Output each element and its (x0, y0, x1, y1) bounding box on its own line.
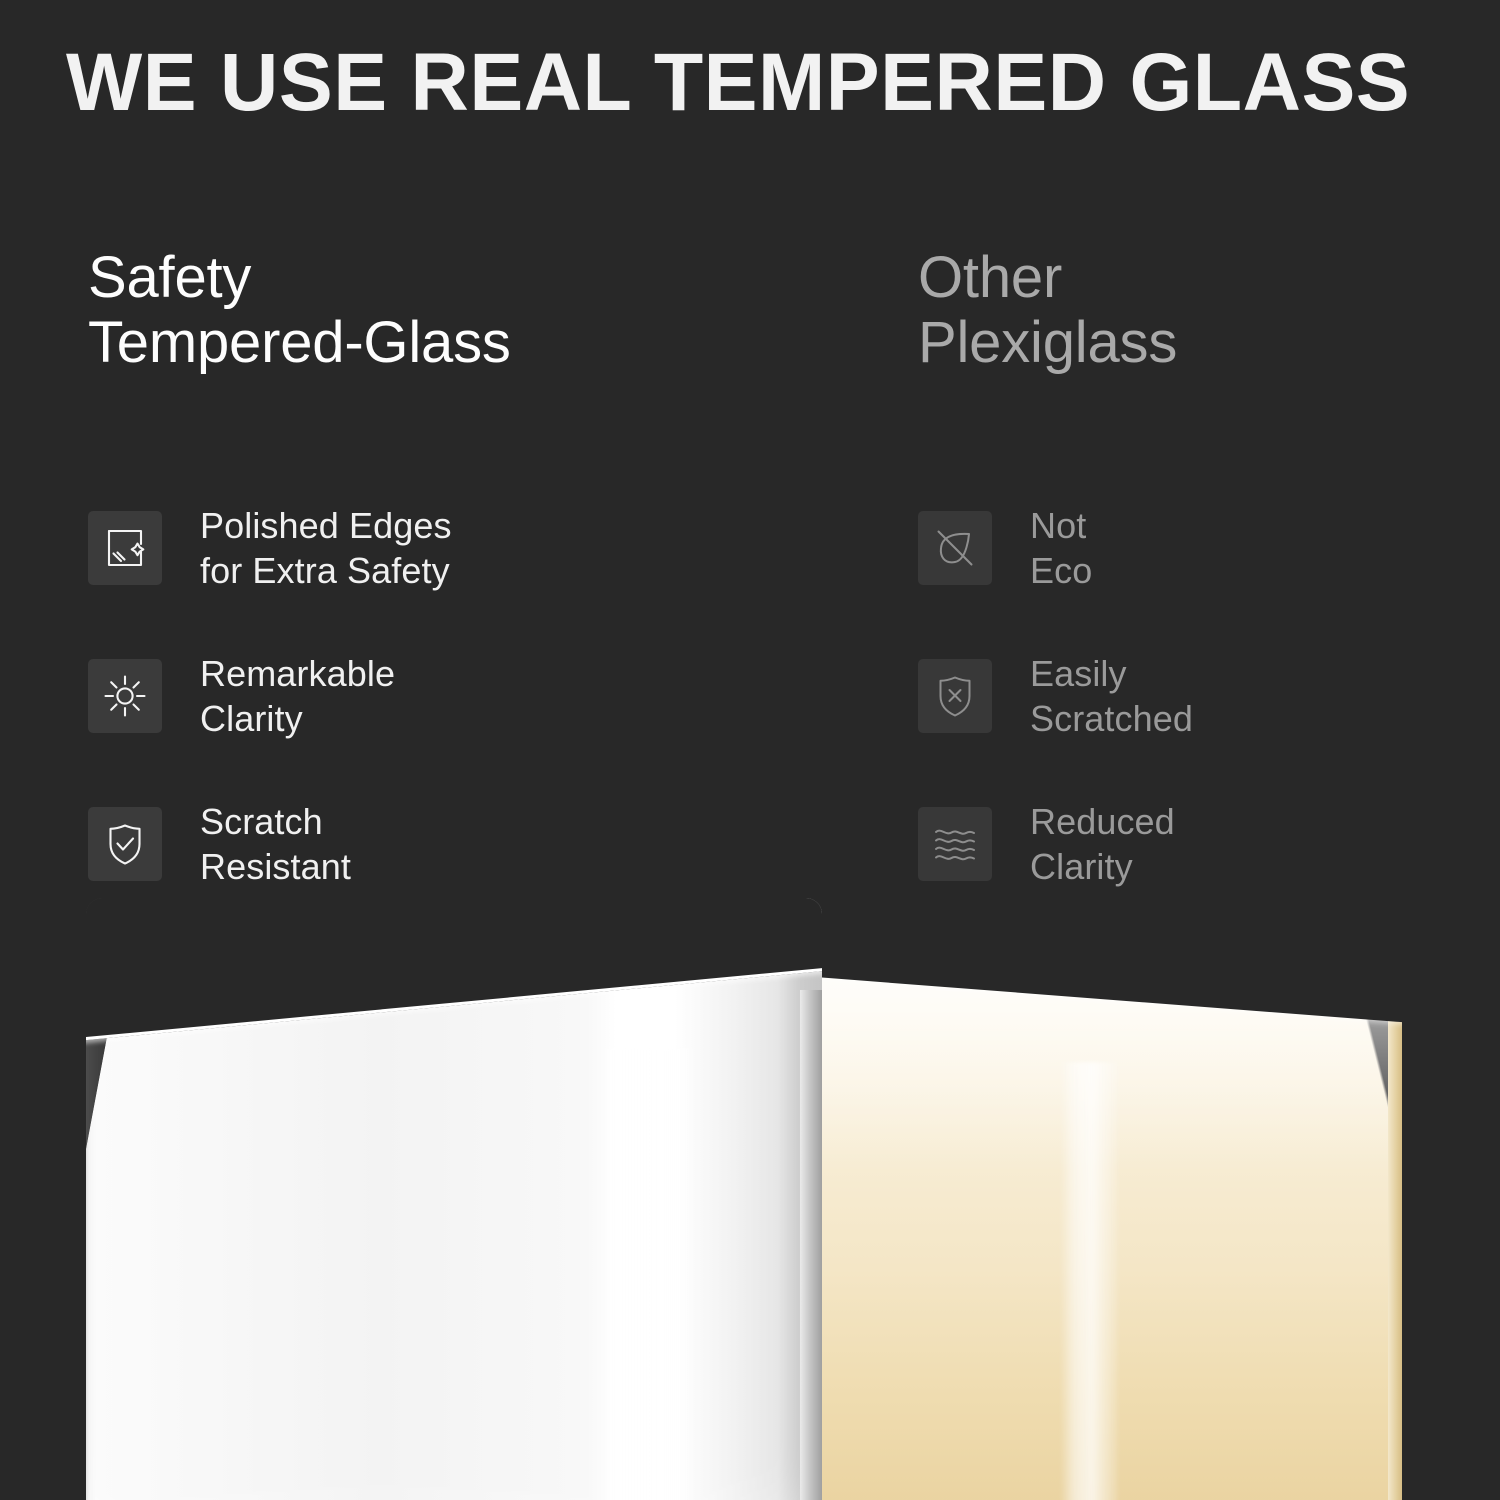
feature-row-polished-edges: Polished Edges for Extra Safety (88, 474, 708, 622)
feature-label-polished-edges: Polished Edges for Extra Safety (200, 503, 452, 593)
feature-label-remarkable-clarity: Remarkable Clarity (200, 651, 395, 741)
plexiglass-top-cut (822, 932, 1402, 1027)
feature-label-reduced-clarity: Reduced Clarity (1030, 799, 1175, 889)
feature-label-not-eco: Not Eco (1030, 503, 1092, 593)
page-title: WE USE REAL TEMPERED GLASS (66, 40, 1445, 126)
column-title-left: Safety Tempered-Glass (88, 246, 708, 376)
feature-list-right: Not Eco Easily Scratched (918, 474, 1500, 918)
infographic-canvas: WE USE REAL TEMPERED GLASS Safety Temper… (0, 0, 1500, 1500)
feature-row-not-eco: Not Eco (918, 474, 1500, 622)
feature-label-scratch-resistant: Scratch Resistant (200, 799, 351, 889)
shield-check-icon (88, 807, 162, 881)
polished-glass-sparkle-icon (88, 511, 162, 585)
column-other-plexiglass: Other Plexiglass Not Eco (918, 246, 1500, 376)
tempered-glass-panel (86, 898, 822, 1500)
shield-x-icon (918, 659, 992, 733)
plexiglass-panel (822, 932, 1402, 1500)
glass-reflection-highlight (601, 1048, 693, 1500)
glass-comparison-image (0, 880, 1500, 1500)
glass-right-edge (800, 990, 822, 1500)
sun-clarity-icon (88, 659, 162, 733)
wavy-lines-icon (918, 807, 992, 881)
leaf-crossed-out-icon (918, 511, 992, 585)
column-title-right: Other Plexiglass (918, 246, 1500, 376)
plexiglass-reflection-highlight (1060, 1062, 1118, 1500)
plexiglass-right-edge (1388, 972, 1402, 1500)
column-safety-tempered-glass: Safety Tempered-Glass Polished Edges for… (88, 246, 708, 376)
glass-top-cut (86, 898, 822, 1041)
feature-label-easily-scratched: Easily Scratched (1030, 651, 1193, 741)
feature-row-remarkable-clarity: Remarkable Clarity (88, 622, 708, 770)
feature-row-easily-scratched: Easily Scratched (918, 622, 1500, 770)
feature-list-left: Polished Edges for Extra Safety (88, 474, 708, 918)
